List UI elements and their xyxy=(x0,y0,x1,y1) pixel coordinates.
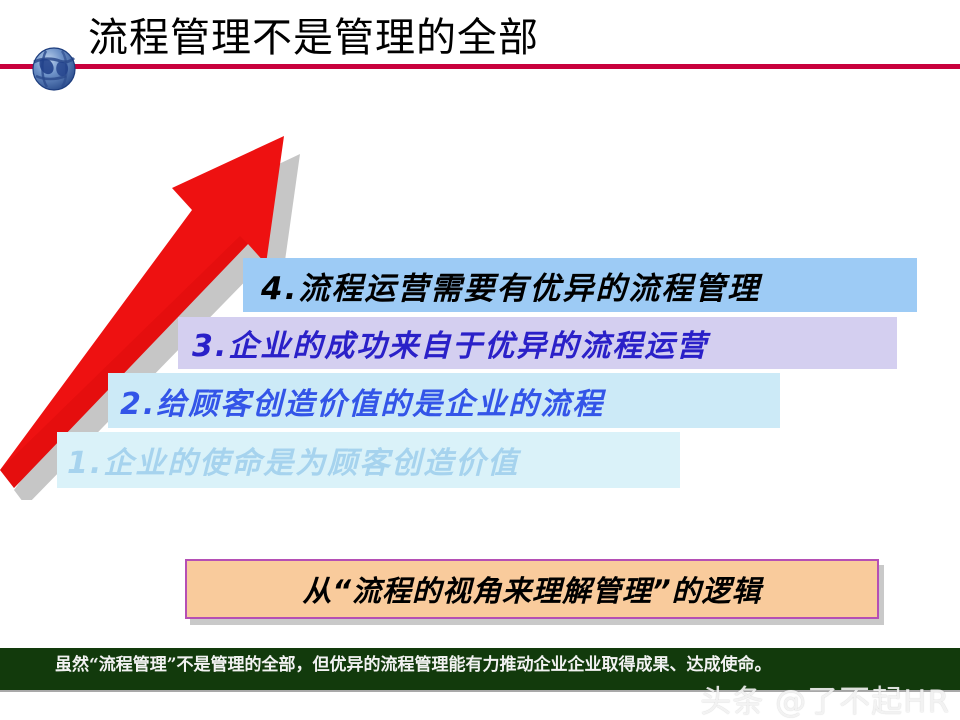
step-bar-4-label: 4.流程运营需要有优异的流程管理 xyxy=(261,263,760,308)
step-bar-4: 4.流程运营需要有优异的流程管理 xyxy=(243,258,917,312)
callout-box: 从“流程的视角来理解管理”的逻辑 xyxy=(185,559,879,619)
callout-text: 从“流程的视角来理解管理”的逻辑 xyxy=(302,568,761,610)
step-bar-1: 1.企业的使命是为顾客创造价值 xyxy=(57,432,680,488)
step-bar-1-label: 1.企业的使命是为顾客创造价值 xyxy=(67,438,519,482)
step-bar-2: 2.给顾客创造价值的是企业的流程 xyxy=(108,373,780,428)
watermark-label: 头条 @了不起HR xyxy=(700,676,950,720)
step-bar-3-label: 3.企业的成功来自于优异的流程运营 xyxy=(192,321,708,365)
header-divider-rule xyxy=(0,64,960,69)
slide-canvas: 流程管理不是管理的全部 xyxy=(0,0,960,720)
step-bar-3: 3.企业的成功来自于优异的流程运营 xyxy=(178,317,897,369)
globe-icon xyxy=(26,44,82,92)
page-title: 流程管理不是管理的全部 xyxy=(88,14,539,62)
step-bar-2-label: 2.给顾客创造价值的是企业的流程 xyxy=(120,379,604,423)
